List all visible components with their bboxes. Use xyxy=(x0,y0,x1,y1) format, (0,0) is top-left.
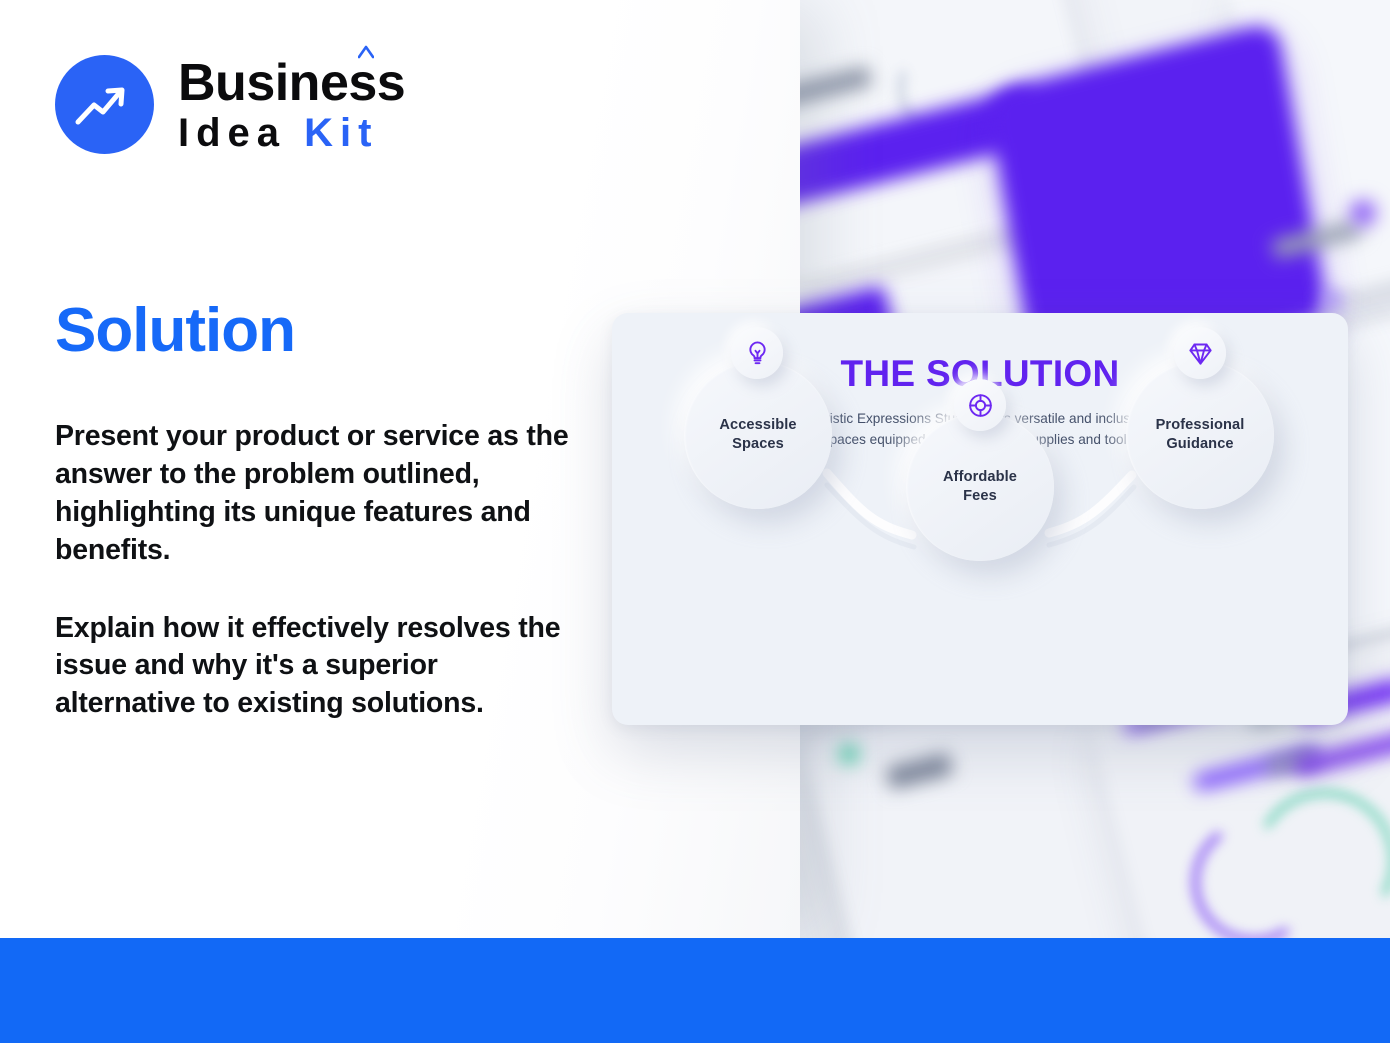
body-copy: Present your product or service as the a… xyxy=(55,418,585,723)
page-title: Solution xyxy=(55,295,295,366)
brand-logo[interactable]: Business Idea Kit xyxy=(55,55,405,154)
diamond-icon xyxy=(1174,327,1226,379)
footer-bar xyxy=(0,938,1390,1043)
lifebuoy-icon xyxy=(954,379,1006,431)
brand-name-line1: Business xyxy=(178,57,405,109)
lightbulb-icon xyxy=(731,327,783,379)
node-label: Professional Guidance xyxy=(1156,416,1245,453)
brand-name-kit: Kit xyxy=(304,111,378,155)
node-label-line1: Accessible xyxy=(719,417,796,433)
growth-arrow-icon xyxy=(55,55,154,154)
node-label-line1: Affordable xyxy=(943,469,1017,485)
node-circle[interactable]: Affordable Fees xyxy=(906,413,1054,561)
node-circle[interactable]: Professional Guidance xyxy=(1126,361,1274,509)
brand-wordmark: Business Idea Kit xyxy=(178,57,405,153)
node-label-line2: Guidance xyxy=(1166,436,1233,452)
node-circle[interactable]: Accessible Spaces xyxy=(684,361,832,509)
node-label-line1: Professional xyxy=(1156,417,1245,433)
node-label-line2: Fees xyxy=(963,488,997,504)
brand-name-line2: Idea Kit xyxy=(178,113,405,153)
brand-name-idea: Idea xyxy=(178,111,304,155)
blurred-dot xyxy=(1322,290,1342,310)
blurred-dot xyxy=(1350,200,1376,226)
node-label: Affordable Fees xyxy=(943,468,1017,505)
body-paragraph-2: Explain how it effectively resolves the … xyxy=(55,610,585,724)
blurred-dot xyxy=(840,745,858,763)
slide-canvas: Business Idea Kit Solution Present your … xyxy=(0,0,1390,1043)
node-label: Accessible Spaces xyxy=(719,416,796,453)
caret-accent-icon xyxy=(358,45,374,59)
solution-card: THE SOLUTION Artistic Expressions Studio… xyxy=(612,313,1348,725)
node-label-line2: Spaces xyxy=(732,436,784,452)
body-paragraph-1: Present your product or service as the a… xyxy=(55,418,585,570)
